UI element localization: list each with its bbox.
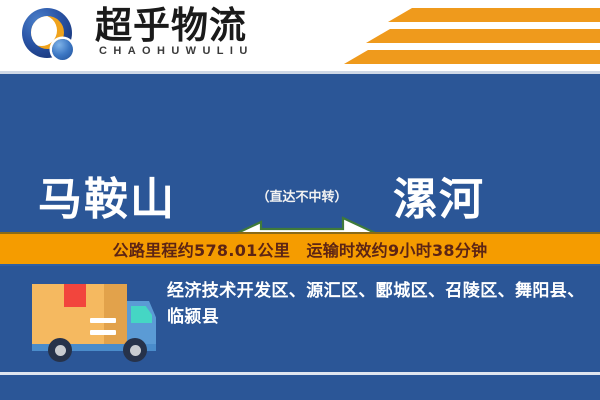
crescent-circle-logo-icon bbox=[22, 8, 78, 64]
banner-header: 超乎物流 CHAOHUWULIU bbox=[0, 0, 600, 71]
truck-speed-line-1 bbox=[90, 318, 116, 323]
orange-speed-stripes-icon bbox=[330, 6, 600, 66]
truck-rear-wheel bbox=[48, 338, 72, 362]
destination-city-label: 漯河 bbox=[393, 176, 485, 224]
stripe-3 bbox=[344, 50, 600, 64]
truck-cargo-label-red bbox=[64, 284, 86, 307]
logo-dot-shape bbox=[52, 39, 73, 60]
stripe-2 bbox=[366, 29, 600, 43]
truck-speed-line-2 bbox=[90, 330, 116, 335]
direct-transport-label: （直达不中转） bbox=[228, 186, 376, 205]
brand-name-cn: 超乎物流 bbox=[95, 6, 247, 46]
truck-front-wheel bbox=[123, 338, 147, 362]
brand-name-en: CHAOHUWULIU bbox=[99, 45, 254, 57]
route-info-band: 公路里程约578.01公里 运输时效约9小时38分钟 bbox=[0, 234, 600, 264]
coverage-districts-text: 经济技术开发区、源汇区、郾城区、召陵区、舞阳县、临颍县 bbox=[167, 278, 585, 330]
truck-rear-wheel-hub bbox=[55, 345, 66, 356]
logistics-route-banner: 超乎物流 CHAOHUWULIU 马鞍山 （直达不中转） 【往返运输】 漯河 公… bbox=[0, 0, 600, 400]
delivery-truck-icon bbox=[22, 276, 164, 368]
banner-footer bbox=[0, 375, 600, 400]
distance-and-duration-text: 公路里程约578.01公里 运输时效约9小时38分钟 bbox=[113, 237, 488, 261]
truck-front-wheel-hub bbox=[130, 345, 141, 356]
truck-cargo-box-shade bbox=[104, 284, 127, 344]
origin-city-label: 马鞍山 bbox=[38, 176, 176, 224]
stripe-1 bbox=[388, 8, 600, 22]
route-panel: 马鞍山 （直达不中转） 【往返运输】 漯河 bbox=[0, 74, 600, 232]
